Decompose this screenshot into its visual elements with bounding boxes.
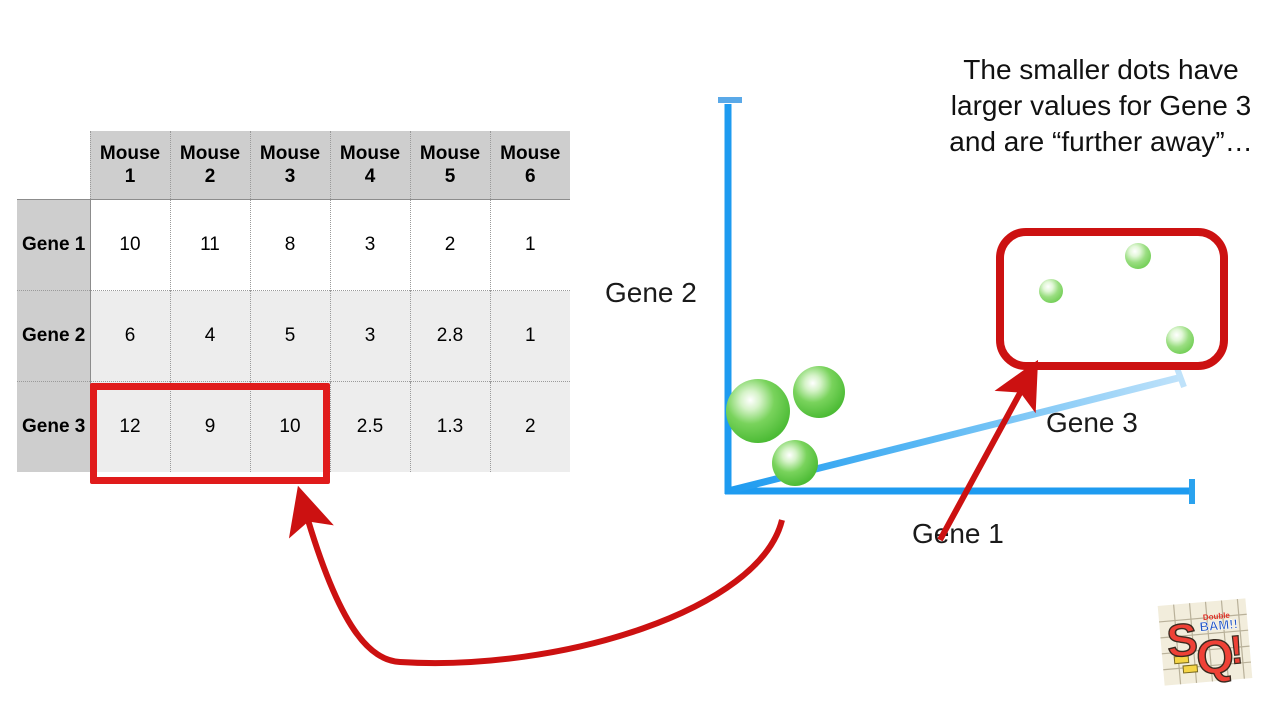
column-header-number: 2	[171, 165, 250, 188]
row-header-gene-1: Gene 1	[17, 200, 90, 291]
data-point-mouse-1	[726, 379, 790, 443]
cell-gene2-mouse4: 3	[330, 291, 410, 382]
cell-gene3-mouse4: 2.5	[330, 382, 410, 473]
column-header-mouse-4: Mouse 4	[330, 131, 410, 200]
column-header-word: Mouse	[331, 142, 410, 165]
cell-gene1-mouse4: 3	[330, 200, 410, 291]
column-header-number: 4	[331, 165, 410, 188]
cell-gene2-mouse3: 5	[250, 291, 330, 382]
table-header-row: Mouse 1 Mouse 2 Mouse 3 Mouse 4 Mouse	[17, 131, 570, 200]
cell-gene1-mouse2: 11	[170, 200, 250, 291]
column-header-mouse-6: Mouse 6	[490, 131, 570, 200]
data-point-mouse-2	[793, 366, 845, 418]
column-header-number: 6	[491, 165, 571, 188]
column-header-mouse-1: Mouse 1	[90, 131, 170, 200]
column-header-number: 1	[91, 165, 170, 188]
column-header-number: 5	[411, 165, 490, 188]
table-row: Gene 1 10 11 8 3 2 1	[17, 200, 570, 291]
scatter-plot-3d	[690, 60, 1272, 560]
column-header-word: Mouse	[171, 142, 250, 165]
column-header-word: Mouse	[251, 142, 330, 165]
arrow-to-cluster	[940, 382, 1026, 540]
data-point-mouse-5	[1125, 243, 1151, 269]
cell-gene2-mouse1: 6	[90, 291, 170, 382]
column-header-mouse-3: Mouse 3	[250, 131, 330, 200]
column-header-mouse-2: Mouse 2	[170, 131, 250, 200]
table-row: Gene 3 12 9 10 2.5 1.3 2	[17, 382, 570, 473]
column-header-word: Mouse	[491, 142, 571, 165]
table-row: Gene 2 6 4 5 3 2.8 1	[17, 291, 570, 382]
row-header-gene-2: Gene 2	[17, 291, 90, 382]
data-point-mouse-3	[772, 440, 818, 486]
data-point-mouse-6	[1166, 326, 1194, 354]
cell-gene1-mouse6: 1	[490, 200, 570, 291]
column-header-word: Mouse	[91, 142, 170, 165]
column-header-mouse-5: Mouse 5	[410, 131, 490, 200]
cell-gene1-mouse1: 10	[90, 200, 170, 291]
cell-gene3-mouse6: 2	[490, 382, 570, 473]
row-header-gene-3: Gene 3	[17, 382, 90, 473]
cell-gene1-mouse5: 2	[410, 200, 490, 291]
cell-gene2-mouse2: 4	[170, 291, 250, 382]
data-points-far	[1039, 243, 1194, 354]
gene-expression-table: Mouse 1 Mouse 2 Mouse 3 Mouse 4 Mouse	[17, 131, 570, 471]
cell-gene2-mouse5: 2.8	[410, 291, 490, 382]
column-header-number: 3	[251, 165, 330, 188]
cell-gene1-mouse3: 8	[250, 200, 330, 291]
y-axis-label: Gene 2	[605, 277, 697, 309]
table-corner-cell	[17, 131, 90, 200]
cell-gene3-mouse3: 10	[250, 382, 330, 473]
data-point-mouse-4	[1039, 279, 1063, 303]
cell-gene3-mouse2: 9	[170, 382, 250, 473]
column-header-word: Mouse	[411, 142, 490, 165]
table: Mouse 1 Mouse 2 Mouse 3 Mouse 4 Mouse	[17, 131, 570, 472]
logo-graphic: S Q ! Double BAM!!	[1157, 598, 1253, 686]
cell-gene2-mouse6: 1	[490, 291, 570, 382]
cell-gene3-mouse5: 1.3	[410, 382, 490, 473]
plot-canvas	[690, 60, 1272, 560]
statquest-logo: S Q ! Double BAM!!	[1157, 598, 1253, 686]
cell-gene3-mouse1: 12	[90, 382, 170, 473]
